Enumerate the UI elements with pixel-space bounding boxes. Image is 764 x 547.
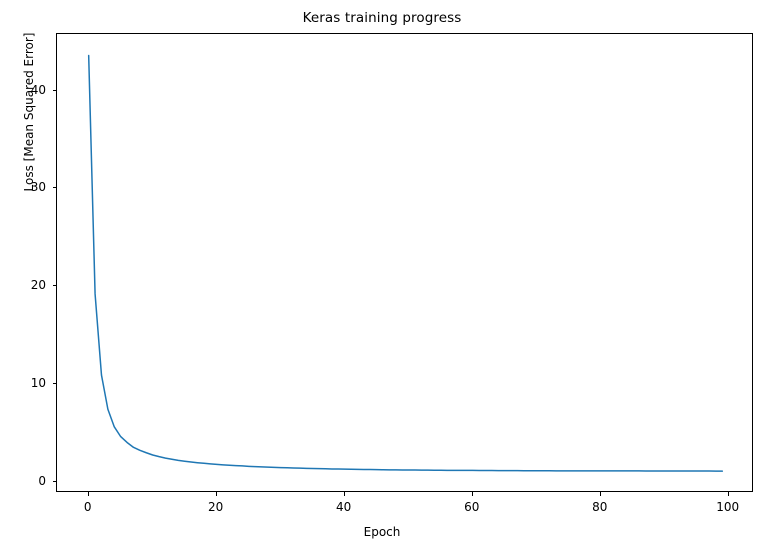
y-tick-mark <box>53 481 57 482</box>
x-tick-label: 80 <box>592 500 607 514</box>
y-tick-label: 0 <box>0 474 46 488</box>
y-tick-label: 10 <box>0 376 46 390</box>
x-tick-mark <box>472 492 473 496</box>
x-tick-mark <box>344 492 345 496</box>
x-tick-label: 100 <box>716 500 739 514</box>
x-axis-label: Epoch <box>0 525 764 539</box>
x-tick-label: 40 <box>336 500 351 514</box>
y-tick-mark <box>53 90 57 91</box>
x-tick-mark <box>600 492 601 496</box>
y-tick-mark <box>53 383 57 384</box>
loss-curve-svg <box>57 34 754 493</box>
y-tick-label: 20 <box>0 278 46 292</box>
x-tick-mark <box>88 492 89 496</box>
x-tick-label: 0 <box>84 500 92 514</box>
x-tick-mark <box>216 492 217 496</box>
y-tick-mark <box>53 187 57 188</box>
plot-axes-area <box>56 33 753 492</box>
loss-line <box>89 56 723 472</box>
matplotlib-figure: Keras training progress 010203040 020406… <box>0 0 764 547</box>
x-tick-mark <box>728 492 729 496</box>
y-tick-mark <box>53 285 57 286</box>
x-tick-label: 60 <box>464 500 479 514</box>
chart-title: Keras training progress <box>0 10 764 26</box>
y-axis-label: Loss [Mean Squared Error] <box>22 0 36 262</box>
x-tick-label: 20 <box>208 500 223 514</box>
